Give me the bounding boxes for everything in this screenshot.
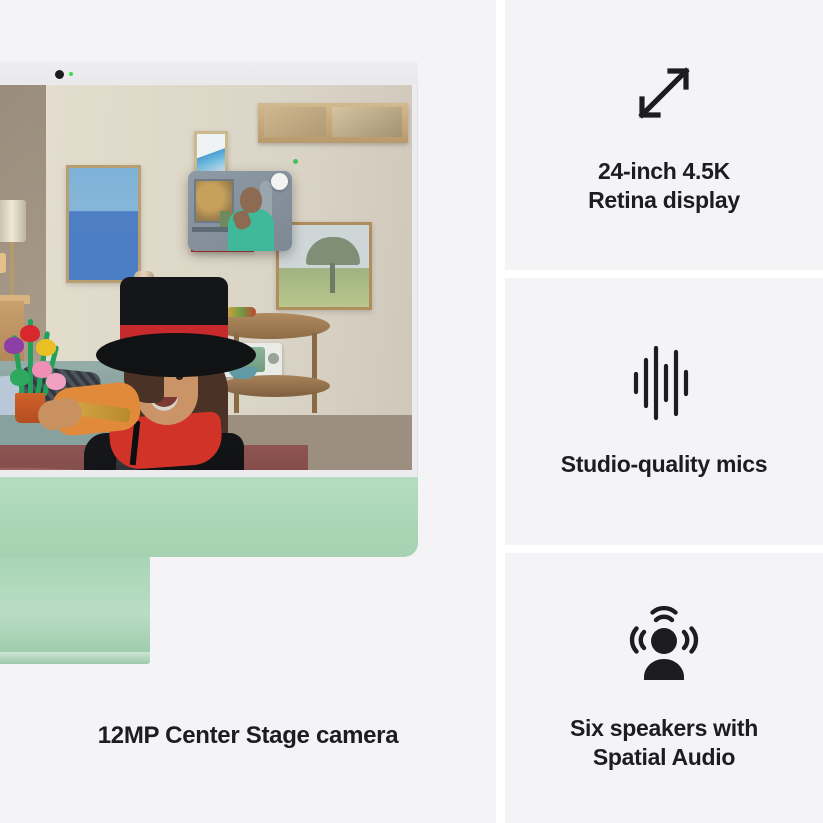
shelf-artwork-2 (332, 107, 402, 137)
pip-person-head (240, 187, 262, 213)
onscreen-green-dot (293, 159, 298, 164)
camera-active-led-icon (69, 72, 73, 76)
feature-panel-mics-label: Studio-quality mics (547, 450, 781, 479)
shelf-artwork-1 (264, 107, 326, 137)
side-table-leg (312, 333, 317, 413)
imac-stand-base (0, 652, 150, 664)
flower-yellow (36, 339, 56, 356)
camera-feature-caption: 12MP Center Stage camera (0, 722, 496, 750)
feature-panel-speakers: Six speakers with Spatial Audio (505, 553, 823, 823)
fruit-bowl (226, 307, 256, 317)
flower-purple (4, 337, 24, 354)
imac-display-screen (0, 85, 412, 470)
camera-lens-icon (55, 70, 64, 79)
paper-flowers (6, 317, 58, 397)
floor-lamp-shade (0, 200, 26, 242)
small-vase (0, 253, 6, 273)
expand-arrows-icon (626, 55, 702, 131)
product-feature-grid: 12MP Center Stage camera 24-inch 4.5K Re… (0, 0, 823, 823)
feature-panel-mics: Studio-quality mics (505, 278, 823, 545)
girl-top-hat-brim (96, 333, 256, 377)
spatial-audio-person-icon (623, 604, 705, 688)
feature-panel-display: 24-inch 4.5K Retina display (505, 0, 823, 270)
audio-waveform-icon (631, 344, 697, 422)
radio-knob (268, 353, 279, 364)
flower-green (10, 369, 30, 386)
camera-feature-panel: 12MP Center Stage camera (0, 0, 496, 823)
flower-red (20, 325, 40, 342)
lamp-stem-shape (330, 263, 335, 293)
imac-stand-neck (0, 557, 150, 659)
flower-pink-2 (46, 373, 66, 390)
imac-product-image (0, 62, 418, 557)
feature-panel-display-label: 24-inch 4.5K Retina display (574, 157, 754, 215)
imac-chin (0, 477, 418, 557)
blue-abstract-painting (66, 165, 141, 283)
feature-panel-speakers-label: Six speakers with Spatial Audio (556, 714, 772, 772)
onscreen-indicator-dot (271, 173, 288, 190)
